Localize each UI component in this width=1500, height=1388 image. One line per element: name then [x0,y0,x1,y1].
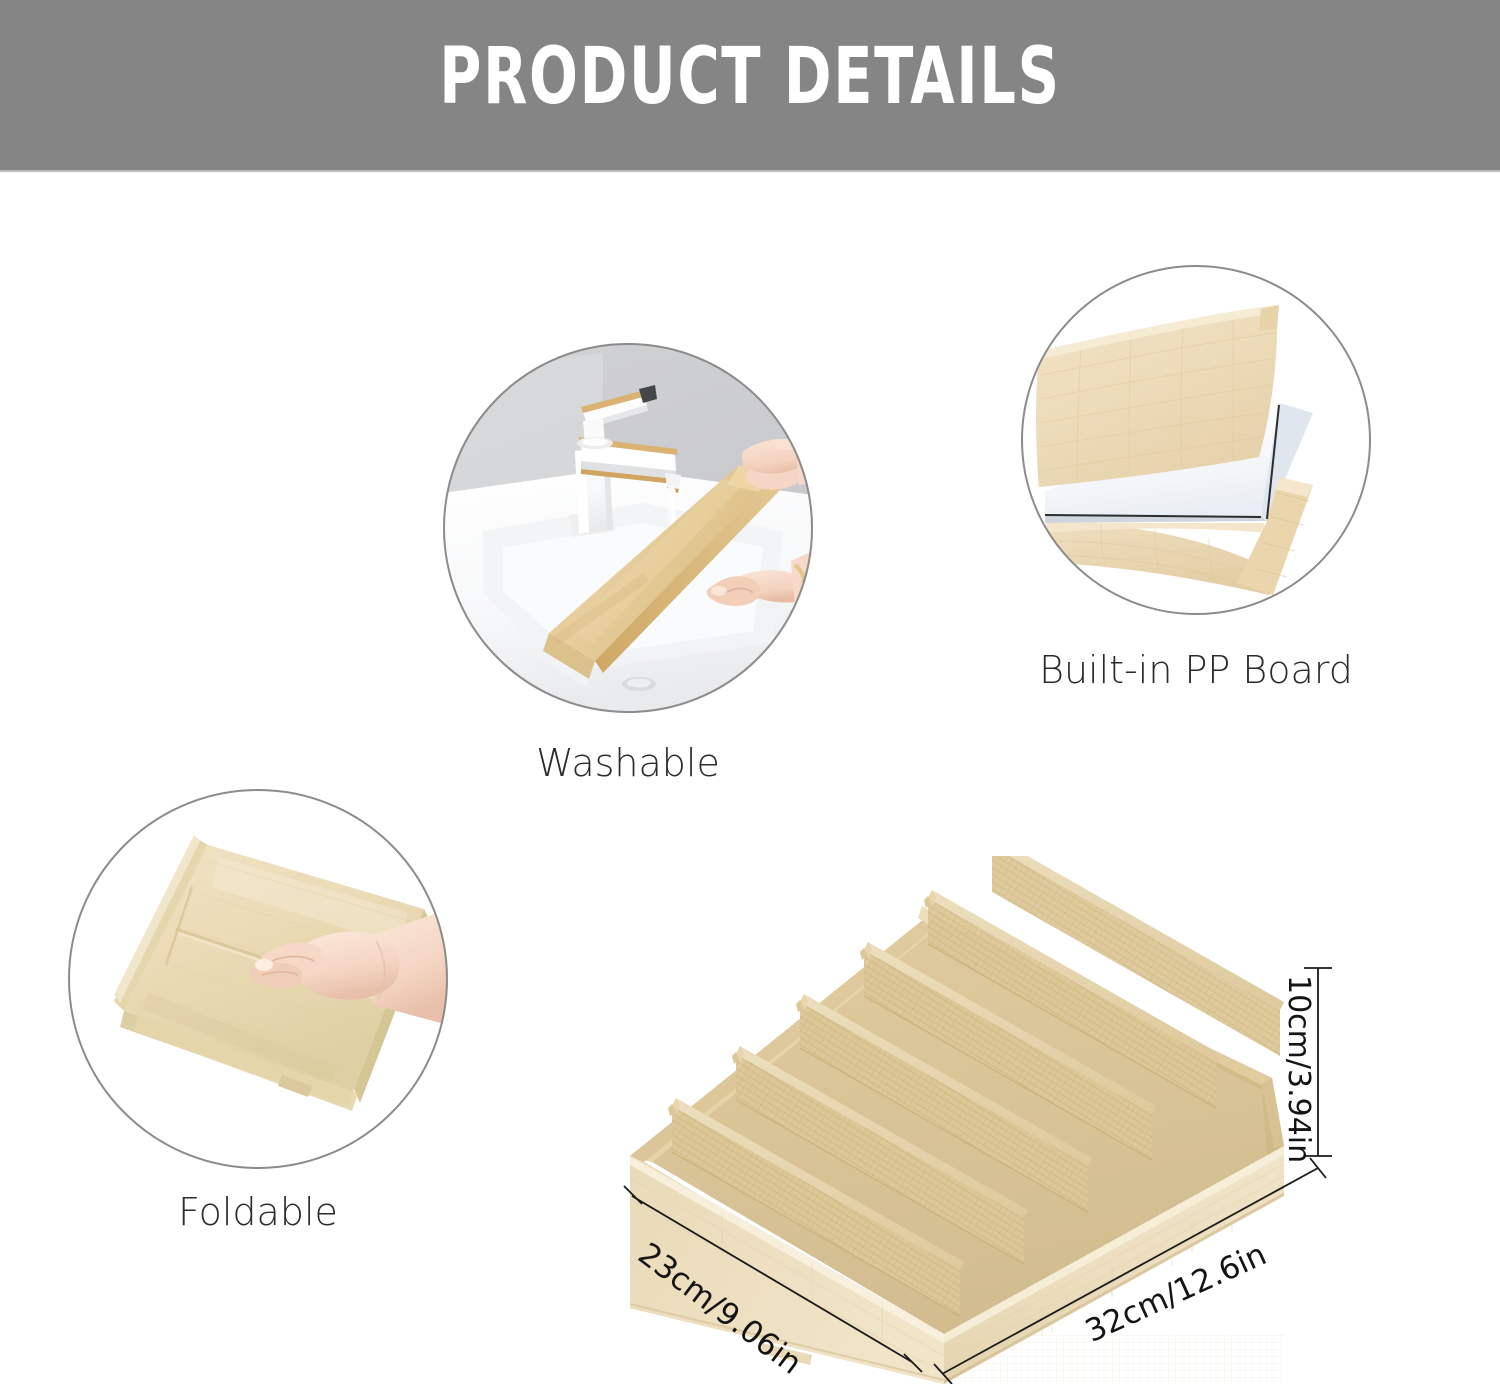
pp-board-image-clip [1021,265,1371,615]
page-header-banner: PRODUCT DETAILS [0,0,1500,172]
page-title: PRODUCT DETAILS [135,32,1365,122]
dimension-height-label: 10cm/3.94in [1281,975,1316,1163]
feature-label-washable: Washable [423,741,833,785]
feature-label-foldable: Foldable [23,1190,493,1234]
foldable-illustration [68,789,448,1169]
foldable-image-clip [68,789,448,1169]
pp-board-illustration [1021,265,1371,615]
washable-illustration [443,343,813,713]
washable-image-clip [443,343,813,713]
feature-label-pp-board: Built-in PP Board [981,648,1411,692]
